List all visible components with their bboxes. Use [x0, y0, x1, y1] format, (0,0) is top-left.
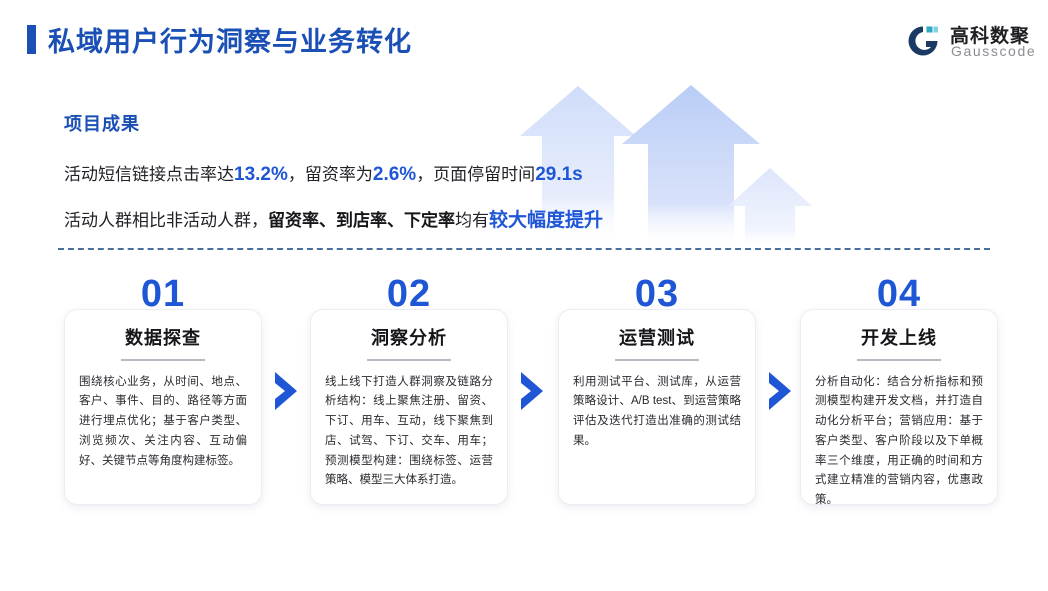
results-line2-part1: 活动人群相比非活动人群， — [64, 211, 268, 230]
results-line1-part2: ，留资率为 — [288, 165, 373, 184]
step-text-02: 线上线下打造人群洞察及链路分析结构：线上聚焦注册、留资、下订、用车、互动，线下聚… — [325, 373, 493, 492]
step-number-01: 01 — [64, 275, 262, 313]
step-title-02: 洞察分析 — [325, 328, 493, 350]
step-rule-03 — [615, 359, 699, 361]
step-rule-02 — [367, 359, 451, 361]
results-line2-part2: 均有 — [455, 211, 489, 230]
results-line1-part3: ，页面停留时间 — [416, 165, 535, 184]
gausscode-logo-mark — [906, 24, 940, 58]
step-number-03: 03 — [558, 275, 756, 313]
title-accent-bar — [27, 25, 36, 54]
results-heading: 项目成果 — [64, 110, 603, 136]
step-title-04: 开发上线 — [815, 328, 983, 350]
project-results-block: 项目成果 活动短信链接点击率达13.2%，留资率为2.6%，页面停留时间29.1… — [64, 110, 603, 253]
chevron-right-icon-1 — [272, 370, 300, 412]
slide-header: 私域用户行为洞察与业务转化 — [0, 0, 1048, 78]
step-rule-04 — [857, 359, 941, 361]
step-card-body-03[interactable]: 运营测试 利用测试平台、测试库，从运营策略设计、A/B test、到运营策略评估… — [558, 309, 756, 505]
results-line2-bold: 留资率、到店率、下定率 — [268, 211, 455, 230]
step-text-04: 分析自动化：结合分析指标和预测模型构建开发文档，并打造自动化分析平台；营销应用：… — [815, 373, 983, 511]
logo-name-en: Gausscode — [951, 43, 1036, 59]
slide-root: 私域用户行为洞察与业务转化 高科数聚 Gausscode 项目成果 活动短信链接… — [0, 0, 1048, 591]
results-line1-part1: 活动短信链接点击率达 — [64, 165, 234, 184]
step-title-03: 运营测试 — [573, 328, 741, 350]
process-steps: 01 数据探查 围绕核心业务，从时间、地点、客户、事件、目的、路径等方面进行埋点… — [0, 275, 1048, 525]
step-number-02: 02 — [310, 275, 508, 313]
metric-ctr: 13.2% — [234, 164, 288, 185]
results-line-1: 活动短信链接点击率达13.2%，留资率为2.6%，页面停留时间29.1s — [64, 162, 603, 188]
step-number-04: 04 — [800, 275, 998, 313]
results-line-2: 活动人群相比非活动人群，留资率、到店率、下定率均有较大幅度提升 — [64, 208, 603, 234]
chevron-right-icon-3 — [766, 370, 794, 412]
step-card-body-02[interactable]: 洞察分析 线上线下打造人群洞察及链路分析结构：线上聚焦注册、留资、下订、用车、互… — [310, 309, 508, 505]
step-card-body-01[interactable]: 数据探查 围绕核心业务，从时间、地点、客户、事件、目的、路径等方面进行埋点优化；… — [64, 309, 262, 505]
page-title: 私域用户行为洞察与业务转化 — [48, 20, 412, 59]
step-text-01: 围绕核心业务，从时间、地点、客户、事件、目的、路径等方面进行埋点优化；基于客户类… — [79, 373, 247, 472]
step-rule-01 — [121, 359, 205, 361]
results-line2-highlight: 较大幅度提升 — [489, 210, 603, 231]
metric-lead-rate: 2.6% — [373, 164, 416, 185]
step-title-01: 数据探查 — [79, 328, 247, 350]
brand-logo: 高科数聚 Gausscode — [906, 20, 1031, 64]
chevron-right-icon-2 — [518, 370, 546, 412]
step-text-03: 利用测试平台、测试库，从运营策略设计、A/B test、到运营策略评估及迭代打造… — [573, 373, 741, 452]
metric-dwell-time: 29.1s — [535, 164, 583, 185]
step-card-body-04[interactable]: 开发上线 分析自动化：结合分析指标和预测模型构建开发文档，并打造自动化分析平台；… — [800, 309, 998, 505]
section-divider — [58, 248, 990, 250]
